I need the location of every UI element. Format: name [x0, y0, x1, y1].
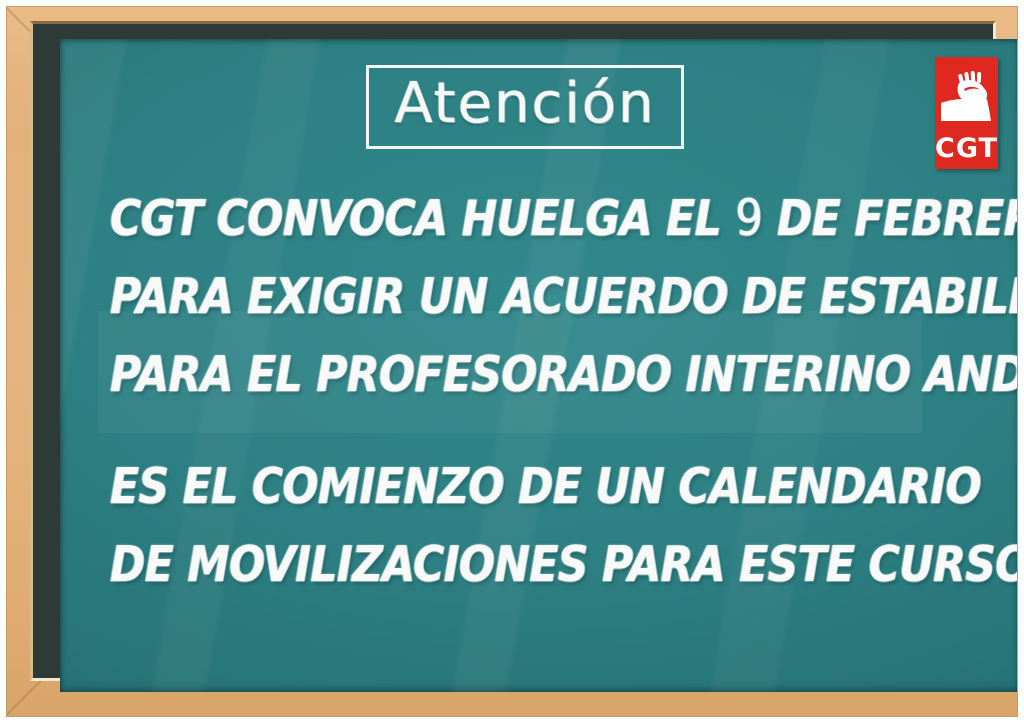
cgt-logo-text: CGT — [935, 135, 998, 162]
text-line: CGT CONVOCA HUELGA EL 9 DE FEBRERO — [110, 179, 955, 258]
text-segment: ES EL COMIENZO DE UN CALENDARIO — [110, 458, 981, 515]
paragraph-two: ES EL COMIENZO DE UN CALENDARIO DE MOVIL… — [110, 448, 990, 604]
frame-miter-top-right — [1016, 6, 1018, 7]
text-segment: DE MOVILIZACIONES PARA ESTE CURSO. — [110, 536, 1018, 593]
announcement-text: CGT CONVOCA HUELGA EL 9 DE FEBRERO PARA … — [110, 179, 990, 604]
text-segment: PARA EL PROFESORADO INTERINO ANDALUZ. — [110, 346, 1018, 403]
raised-fist-icon — [939, 69, 995, 121]
strike-date-number: 9 — [735, 189, 762, 247]
title-box: Atención — [366, 65, 684, 149]
text-line: DE MOVILIZACIONES PARA ESTE CURSO. — [110, 526, 955, 604]
chalkboard-poster: Atención — [0, 0, 1024, 723]
frame-bevel: Atención — [30, 21, 996, 681]
paragraph-spacer — [110, 414, 990, 448]
frame-miter-bottom-right — [1016, 716, 1018, 717]
paragraph-one: CGT CONVOCA HUELGA EL 9 DE FEBRERO PARA … — [110, 179, 990, 414]
text-line: ES EL COMIENZO DE UN CALENDARIO — [110, 448, 955, 526]
page-title: Atención — [394, 76, 655, 138]
wooden-frame: Atención — [6, 6, 1018, 717]
chalkboard-surface: Atención — [60, 39, 1018, 692]
text-segment: DE FEBRERO — [763, 190, 1018, 247]
text-segment: PARA EXIGIR UN ACUERDO DE ESTABILIDAD — [110, 268, 1018, 325]
text-segment: CGT CONVOCA HUELGA EL — [110, 190, 735, 247]
cgt-logo: CGT — [935, 57, 998, 169]
text-line: PARA EL PROFESORADO INTERINO ANDALUZ. — [110, 336, 955, 414]
text-line: PARA EXIGIR UN ACUERDO DE ESTABILIDAD — [110, 258, 955, 336]
